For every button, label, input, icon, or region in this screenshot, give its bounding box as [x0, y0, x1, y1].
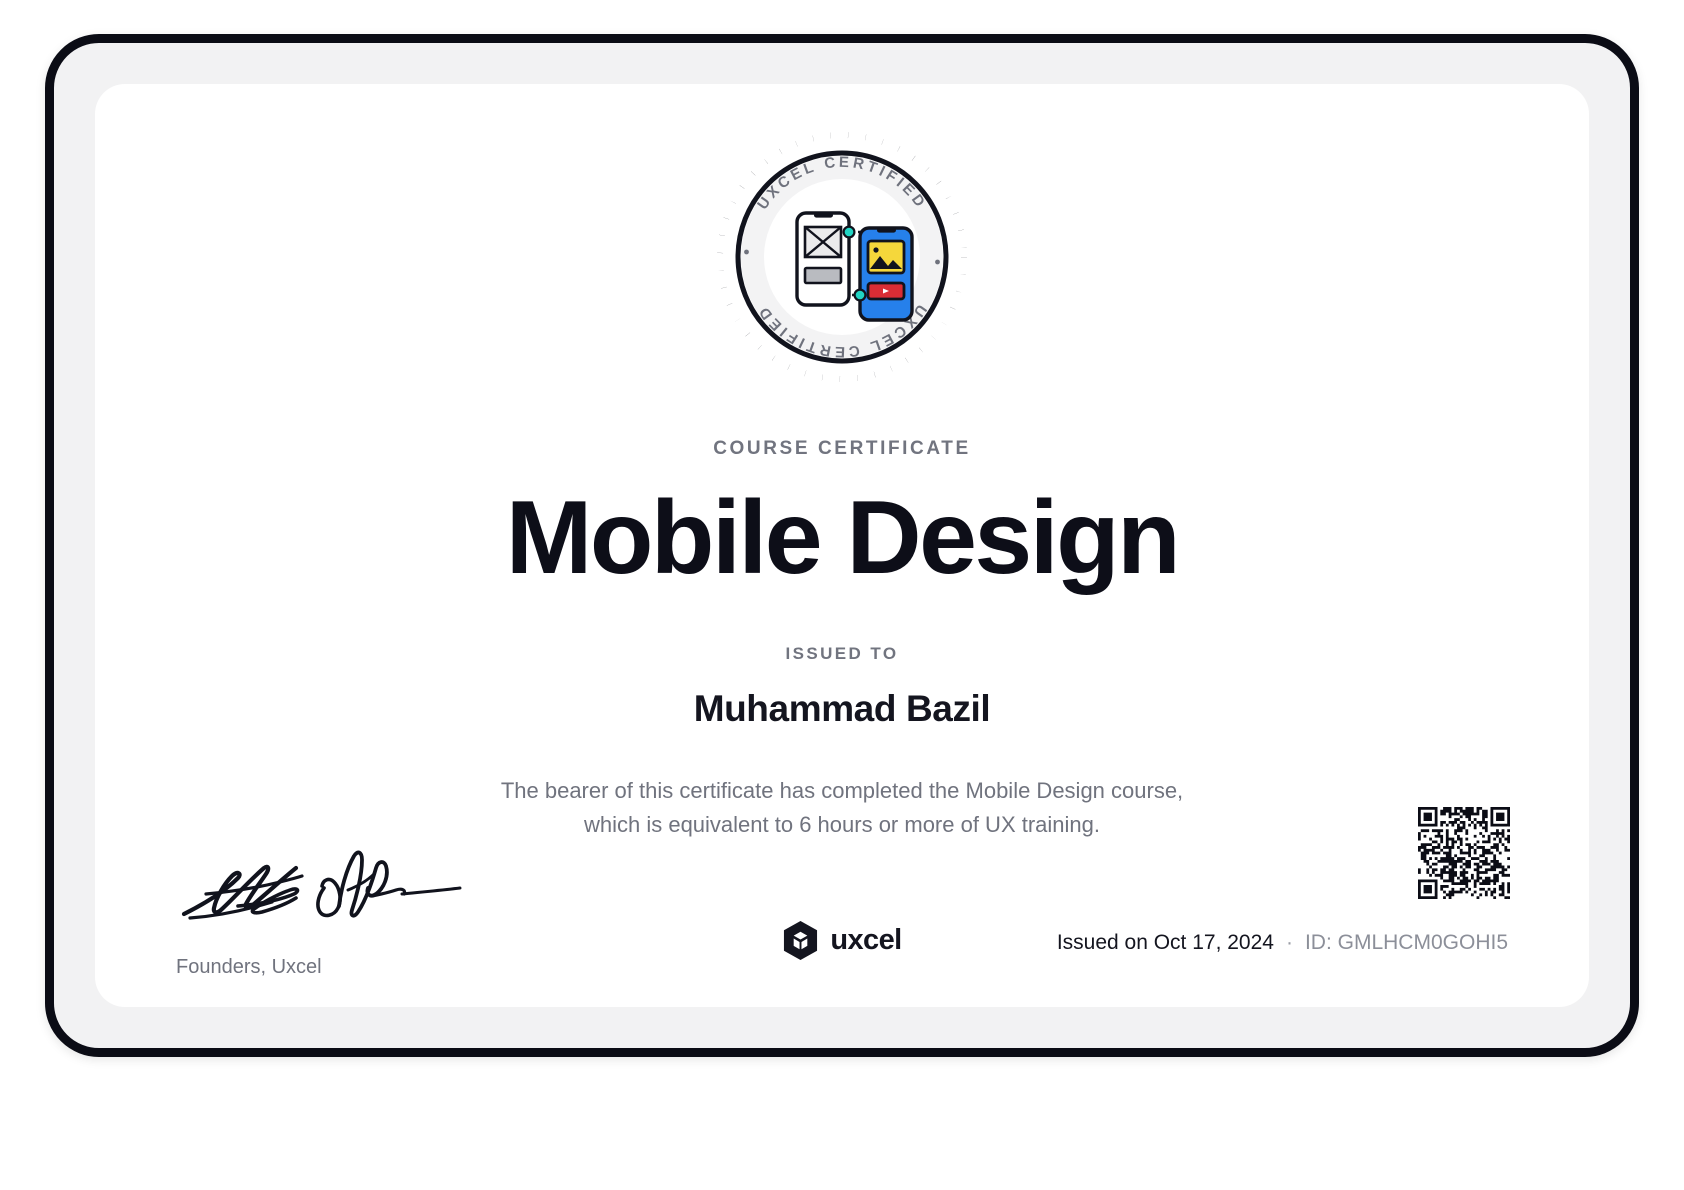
description-line-1: The bearer of this certificate has compl…	[95, 774, 1589, 808]
uxcel-cube-icon	[782, 920, 819, 961]
issued-to-eyebrow: ISSUED TO	[95, 644, 1589, 664]
certificate-id: ID: GMLHCM0GOHI5	[1305, 931, 1508, 955]
description-line-2: which is equivalent to 6 hours or more o…	[95, 808, 1589, 842]
verification-qr-code[interactable]	[1418, 807, 1510, 899]
certificate-card: UXCEL CERTIFIED UXCEL CERTIFIED	[95, 84, 1589, 1007]
issue-date: Issued on Oct 17, 2024	[1057, 931, 1274, 955]
signature-label: Founders, Uxcel	[176, 956, 576, 979]
certificate-description: The bearer of this certificate has compl…	[95, 774, 1589, 842]
signature-block: Founders, Uxcel	[176, 846, 576, 979]
uxcel-wordmark: uxcel	[830, 924, 901, 957]
recipient-name: Muhammad Bazil	[95, 688, 1589, 730]
certificate-frame: UXCEL CERTIFIED UXCEL CERTIFIED	[45, 34, 1639, 1057]
page-title: Mobile Design	[95, 484, 1589, 593]
certificate-badge: UXCEL CERTIFIED UXCEL CERTIFIED	[95, 128, 1589, 386]
meta-separator: ·	[1286, 931, 1293, 955]
certificate-meta: Issued on Oct 17, 2024 · ID: GMLHCM0GOHI…	[1057, 931, 1508, 955]
uxcel-certified-seal-icon: UXCEL CERTIFIED UXCEL CERTIFIED	[713, 128, 971, 386]
course-certificate-eyebrow: COURSE CERTIFICATE	[95, 438, 1589, 460]
certificate-page: UXCEL CERTIFIED UXCEL CERTIFIED	[0, 0, 1684, 1190]
founders-signature-icon	[176, 846, 466, 934]
